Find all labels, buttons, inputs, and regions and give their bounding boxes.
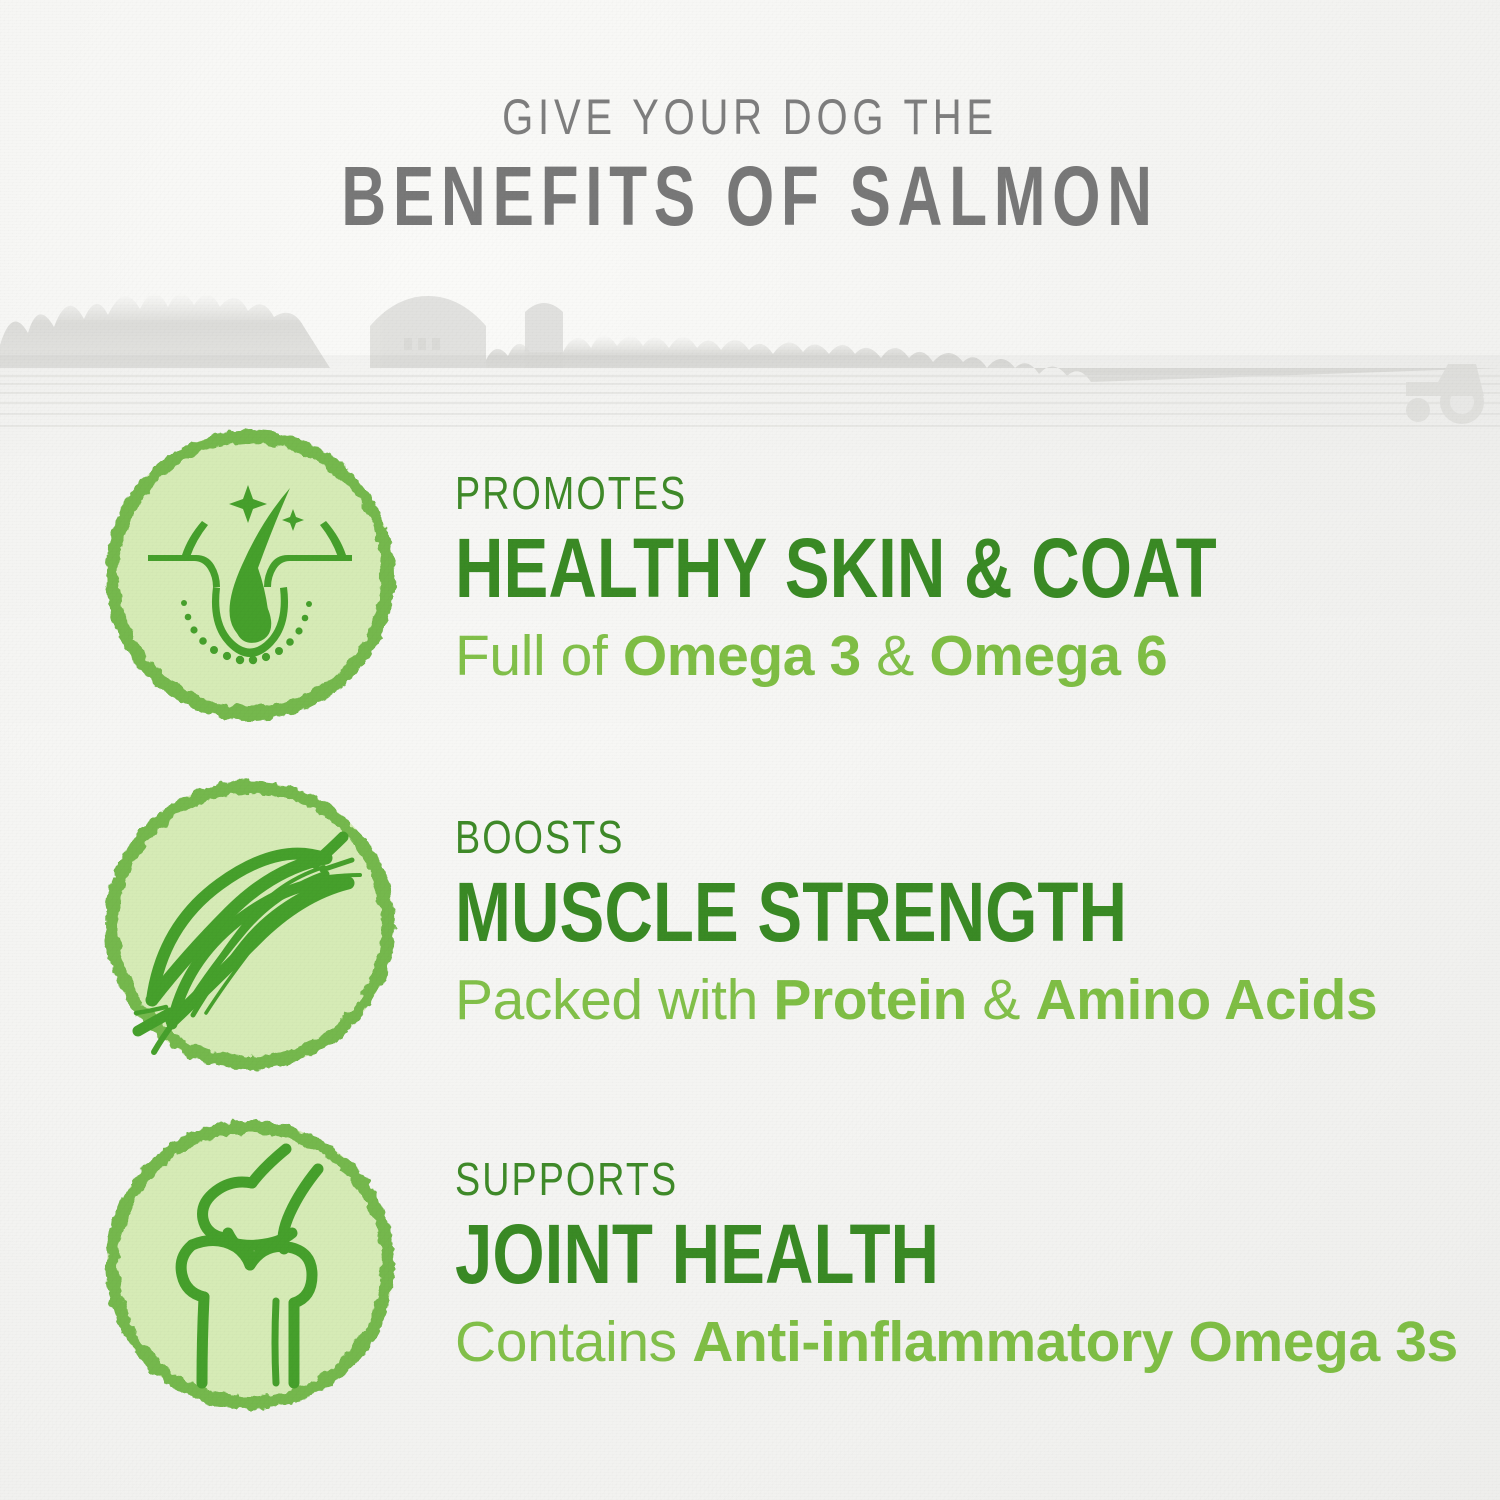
- subline-emphasis: Amino Acids: [1035, 968, 1377, 1032]
- promotional-infographic: GIVE YOUR DOG THE BENEFITS OF SALMON: [0, 0, 1500, 1500]
- benefit-headline: MUSCLE STRENGTH: [455, 869, 1271, 955]
- benefit-row-muscle-strength: BOOSTS MUSCLE STRENGTH Packed with Prote…: [0, 775, 1500, 1075]
- benefit-subline: Full of Omega 3 & Omega 6: [455, 625, 1475, 687]
- benefit-eyebrow: BOOSTS: [455, 813, 1291, 861]
- benefit-subline: Contains Anti-inflammatory Omega 3s: [455, 1311, 1475, 1373]
- badge-muscle-strength: [100, 775, 400, 1075]
- benefit-headline: HEALTHY SKIN & COAT: [455, 525, 1271, 611]
- subline-emphasis: Omega 3: [623, 624, 861, 688]
- badge-skin-coat: [100, 425, 400, 725]
- benefit-row-skin-coat: PROMOTES HEALTHY SKIN & COAT Full of Ome…: [0, 425, 1500, 725]
- hair-follicle-skin-coat-icon: [100, 425, 400, 725]
- farm-landscape-watermark: [0, 250, 1500, 440]
- benefit-subline: Packed with Protein & Amino Acids: [455, 969, 1475, 1031]
- benefit-copy-skin-coat: PROMOTES HEALTHY SKIN & COAT Full of Ome…: [455, 469, 1475, 687]
- subline-text: &: [861, 624, 930, 688]
- benefit-copy-muscle-strength: BOOSTS MUSCLE STRENGTH Packed with Prote…: [455, 813, 1475, 1031]
- subline-text: Full of: [455, 624, 623, 688]
- page-title-line2: BENEFITS OF SALMON: [195, 150, 1305, 242]
- subline-emphasis: Anti-inflammatory Omega 3s: [692, 1310, 1458, 1374]
- muscle-fiber-icon: [100, 775, 400, 1075]
- benefit-headline: JOINT HEALTH: [455, 1211, 1271, 1297]
- subline-text: Contains: [455, 1310, 692, 1374]
- benefit-eyebrow: SUPPORTS: [455, 1155, 1291, 1203]
- benefit-eyebrow: PROMOTES: [455, 469, 1291, 517]
- page-title: GIVE YOUR DOG THE BENEFITS OF SALMON: [0, 88, 1500, 242]
- badge-joint-health: [100, 1115, 400, 1415]
- benefit-copy-joint-health: SUPPORTS JOINT HEALTH Contains Anti-infl…: [455, 1155, 1475, 1373]
- page-title-line1: GIVE YOUR DOG THE: [150, 88, 1350, 146]
- tractor-icon: [1406, 364, 1484, 424]
- subline-text: Packed with: [455, 968, 773, 1032]
- benefit-row-joint-health: SUPPORTS JOINT HEALTH Contains Anti-infl…: [0, 1115, 1500, 1415]
- subline-text: &: [967, 968, 1036, 1032]
- knee-joint-bone-icon: [100, 1115, 400, 1415]
- subline-emphasis: Omega 6: [929, 624, 1167, 688]
- subline-emphasis: Protein: [773, 968, 967, 1032]
